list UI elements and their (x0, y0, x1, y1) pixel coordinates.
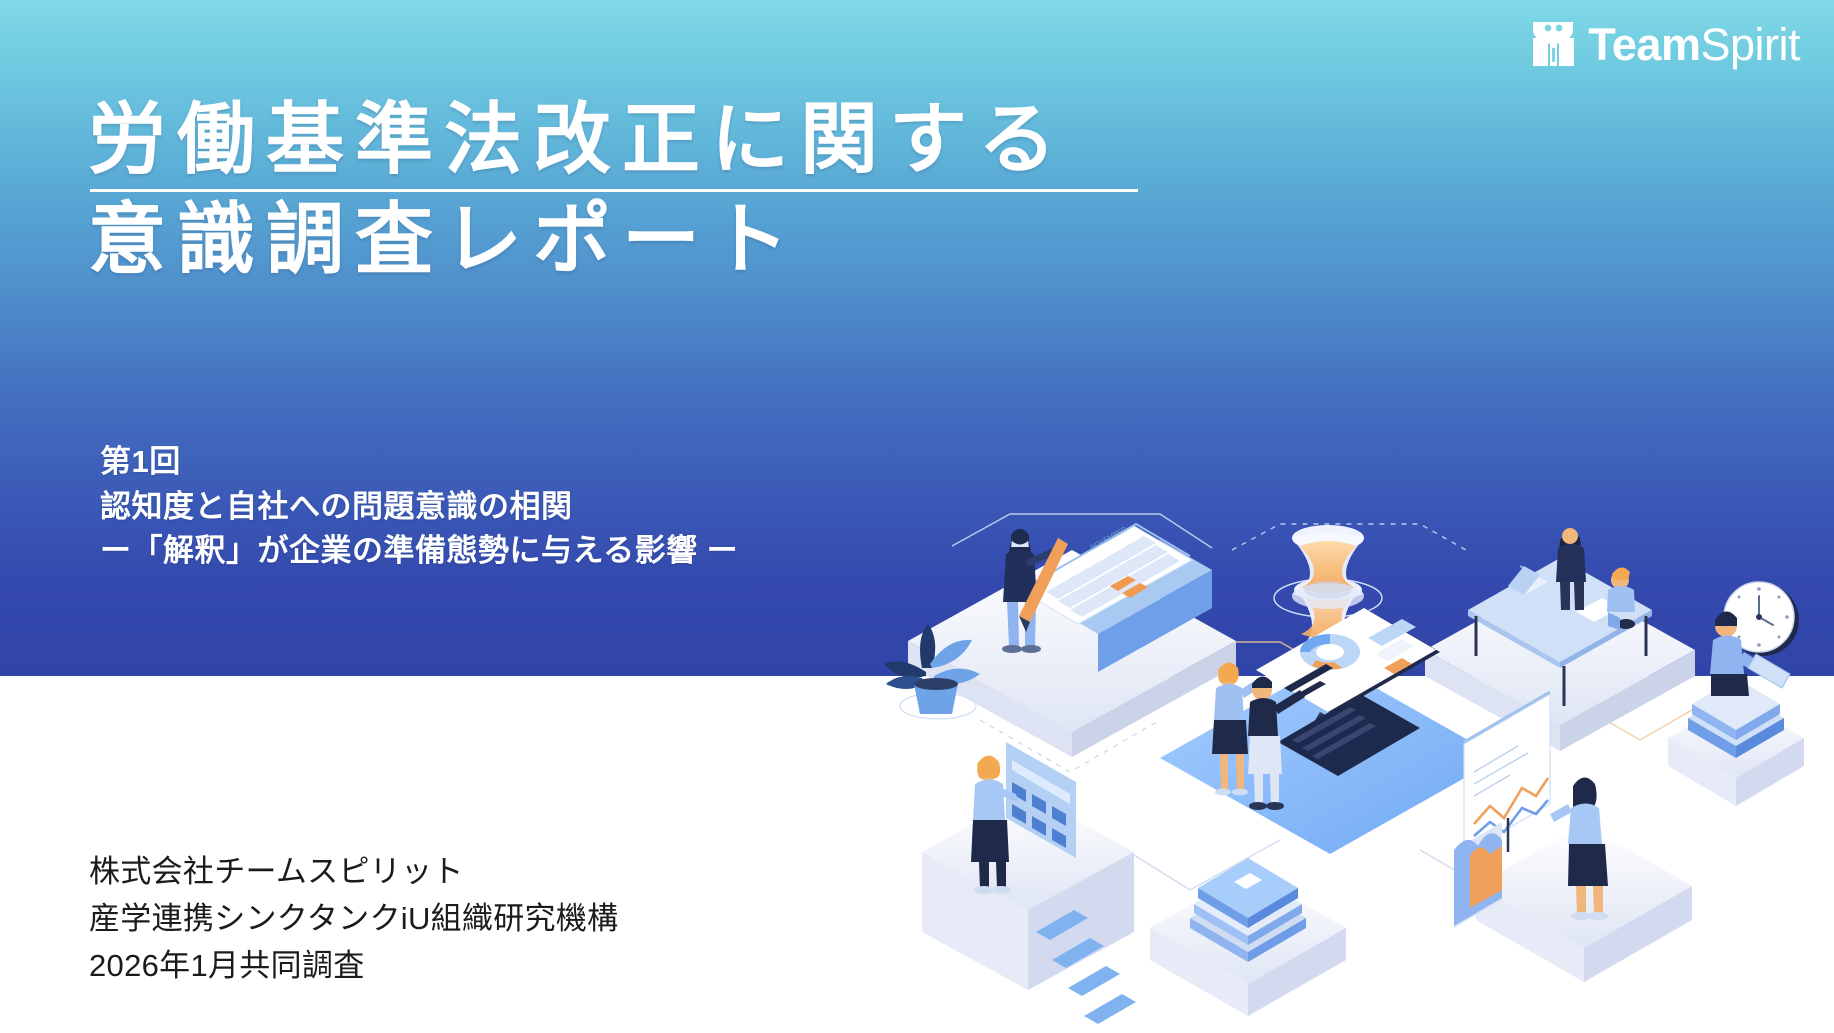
report-cover-slide: NOVEMBER (0, 0, 1834, 1033)
subtitle-line-topic: 認知度と自社への問題意識の相関 (100, 485, 738, 530)
footer-line-company: 株式会社チームスピリット (89, 848, 618, 895)
footer-credits: 株式会社チームスピリット 産学連携シンクタンクiU組織研究機構 2026年1月共… (89, 848, 618, 989)
footer-line-institute: 産学連携シンクタンクiU組織研究機構 (89, 895, 618, 942)
teamspirit-logo[interactable]: TeamSpirit (1527, 18, 1800, 70)
logo-word-team: Team (1588, 22, 1700, 67)
page-title: 労働基準法改正に関する 意識調査レポート (88, 96, 1208, 284)
subtitle-line-edition: 第1回 (100, 440, 738, 485)
subtitle-line-note: ー「解釈」が企業の準備態勢に与える影響 ー (100, 529, 738, 574)
teamspirit-mark-icon (1527, 18, 1579, 70)
title-divider-rule (90, 189, 1138, 192)
title-line-1: 労働基準法改正に関する (88, 96, 1208, 183)
logo-word-spirit: Spirit (1700, 22, 1800, 67)
title-line-2: 意識調査レポート (88, 196, 1208, 283)
subtitle-block: 第1回 認知度と自社への問題意識の相関 ー「解釈」が企業の準備態勢に与える影響 … (100, 440, 738, 574)
teamspirit-wordmark: TeamSpirit (1588, 22, 1800, 67)
footer-line-date: 2026年1月共同調査 (89, 942, 618, 989)
